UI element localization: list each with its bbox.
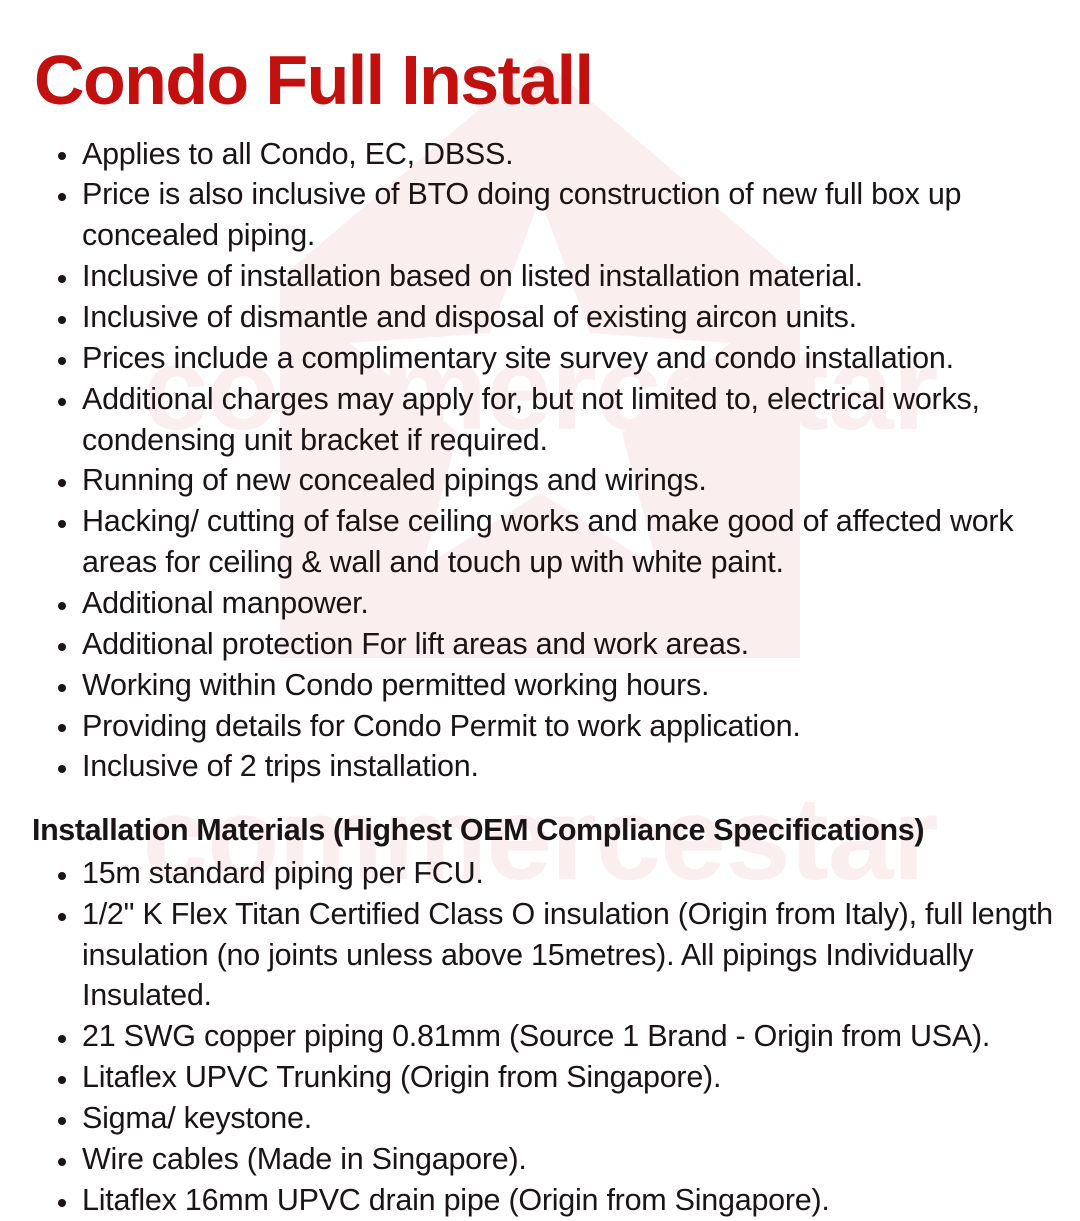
page-title: Condo Full Install xyxy=(0,0,1080,118)
materials-bullet-list: 15m standard piping per FCU.1/2" K Flex … xyxy=(0,853,1080,1221)
list-item: 1/2" K Flex Titan Certified Class O insu… xyxy=(0,894,1080,1017)
list-item: Sigma/ keystone. xyxy=(0,1098,1080,1139)
list-item: Inclusive of installation based on liste… xyxy=(0,256,1080,297)
list-item: Working within Condo permitted working h… xyxy=(0,665,1080,706)
list-item: Litaflex UPVC Trunking (Origin from Sing… xyxy=(0,1057,1080,1098)
list-item: Prices include a complimentary site surv… xyxy=(0,338,1080,379)
document-page: Condo Full Install Applies to all Condo,… xyxy=(0,0,1080,1221)
list-item: Additional charges may apply for, but no… xyxy=(0,379,1080,461)
list-item: Inclusive of dismantle and disposal of e… xyxy=(0,297,1080,338)
list-item: Additional protection For lift areas and… xyxy=(0,624,1080,665)
list-item: Applies to all Condo, EC, DBSS. xyxy=(0,134,1080,175)
list-item: Additional manpower. xyxy=(0,583,1080,624)
list-item: Running of new concealed pipings and wir… xyxy=(0,460,1080,501)
materials-heading: Installation Materials (Highest OEM Comp… xyxy=(0,787,1080,851)
list-item: Providing details for Condo Permit to wo… xyxy=(0,706,1080,747)
list-item: Litaflex 16mm UPVC drain pipe (Origin fr… xyxy=(0,1180,1080,1221)
list-item: 21 SWG copper piping 0.81mm (Source 1 Br… xyxy=(0,1016,1080,1057)
list-item: 15m standard piping per FCU. xyxy=(0,853,1080,894)
list-item: Wire cables (Made in Singapore). xyxy=(0,1139,1080,1180)
list-item: Hacking/ cutting of false ceiling works … xyxy=(0,501,1080,583)
intro-bullet-list: Applies to all Condo, EC, DBSS.Price is … xyxy=(0,134,1080,788)
list-item: Price is also inclusive of BTO doing con… xyxy=(0,174,1080,256)
list-item: Inclusive of 2 trips installation. xyxy=(0,746,1080,787)
